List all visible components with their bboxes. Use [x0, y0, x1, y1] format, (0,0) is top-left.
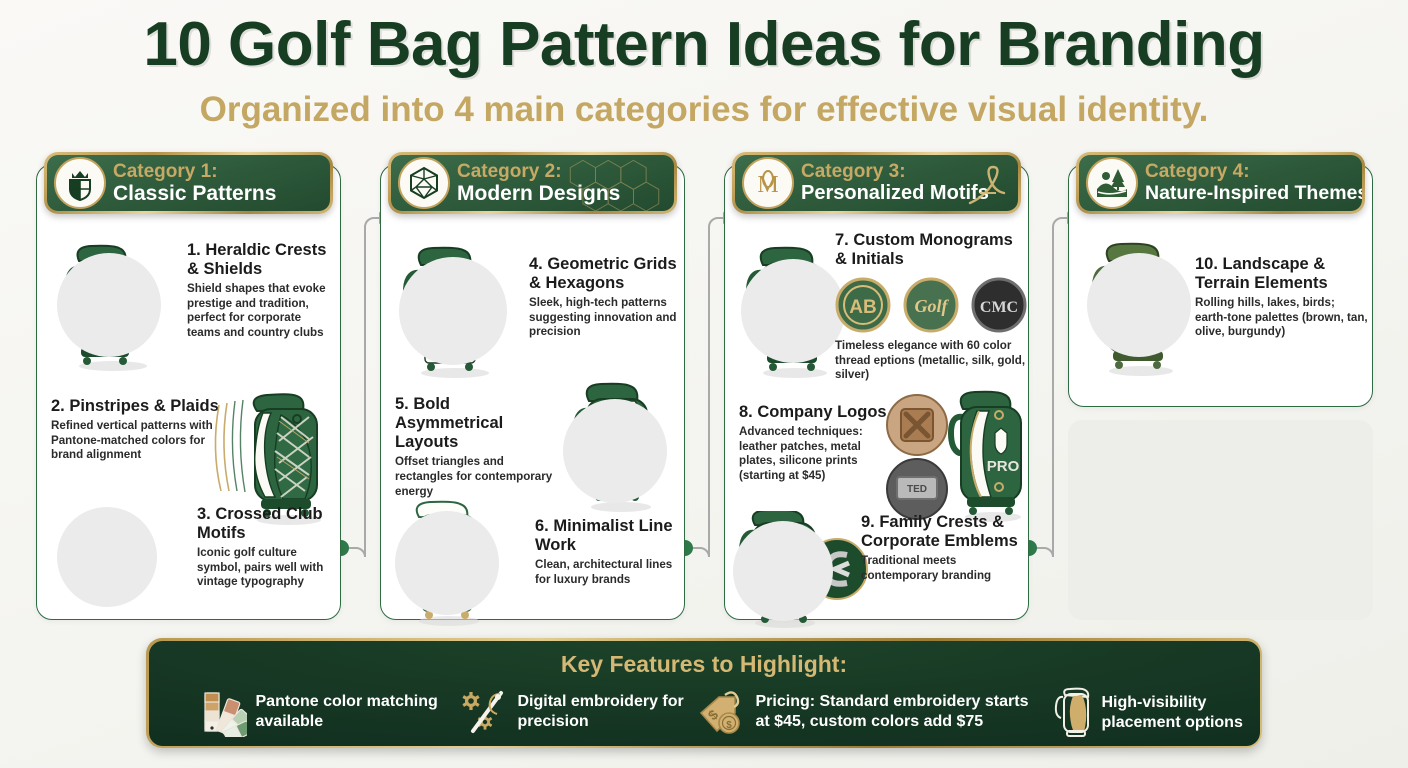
- color-swatch-fan-icon: [197, 687, 247, 737]
- item-desc: Advanced techniques: leather patches, me…: [739, 425, 887, 483]
- golf-bag-outline-icon: [1049, 687, 1093, 739]
- item-desc: Shield shapes that evoke prestige and tr…: [187, 282, 337, 340]
- key-feature-item[interactable]: Pantone color matching available: [197, 687, 447, 737]
- monogram-badge-cmc: CMC: [971, 277, 1027, 333]
- header: 10 Golf Bag Pattern Ideas for Branding O…: [0, 14, 1408, 127]
- list-item[interactable]: ESTD 3. Crossed Club Motifs Iconic golf …: [37, 501, 342, 621]
- key-feature-label: Digital embroidery for precision: [518, 692, 709, 730]
- infographic-root: 10 Golf Bag Pattern Ideas for Branding O…: [0, 0, 1408, 768]
- category-kicker: Category 2:: [457, 161, 620, 182]
- item-title: 6. Minimalist Line Work: [535, 517, 683, 555]
- list-item[interactable]: 1. Heraldic Crests & Shields Shield shap…: [37, 231, 342, 371]
- key-feature-item[interactable]: High-visibility placement options: [1049, 687, 1249, 739]
- category-card-3[interactable]: AB 7. Custom Monograms & Initials: [724, 164, 1029, 620]
- monogram-icon: M: [742, 157, 794, 209]
- list-item[interactable]: 6. Minimalist Line Work Clean, architect…: [381, 495, 686, 625]
- svg-text:Golf: Golf: [915, 296, 950, 316]
- item-title: 2. Pinstripes & Plaids: [51, 397, 223, 416]
- svg-text:AB: AB: [849, 297, 876, 318]
- item-desc: Traditional meets contemporary branding: [861, 554, 1025, 583]
- key-feature-label: High-visibility placement options: [1102, 693, 1249, 731]
- key-features-bar: Key Features to Highlight: Pantone color…: [146, 638, 1262, 748]
- monogram-badge-group: AB Golf CMC: [835, 277, 1027, 333]
- list-item[interactable]: 10. Landscape & Terrain Elements Rolling…: [1069, 231, 1374, 391]
- item-desc: Timeless elegance with 60 color thread e…: [835, 339, 1027, 383]
- item-desc: Rolling hills, lakes, birds; earth-tone …: [1195, 296, 1369, 340]
- category-kicker: Category 1:: [113, 161, 276, 182]
- item-title: 1. Heraldic Crests & Shields: [187, 241, 337, 279]
- item-title: 10. Landscape & Terrain Elements: [1195, 255, 1369, 293]
- item-desc: Clean, architectural lines for luxury br…: [535, 558, 683, 587]
- item-title: 7. Custom Monograms & Initials: [835, 231, 1027, 269]
- category-card-2[interactable]: 4. Geometric Grids & Hexagons Sleek, hig…: [380, 164, 685, 620]
- needle-gears-icon: [459, 687, 509, 737]
- item-title: 5. Bold Asymmetrical Layouts: [395, 395, 561, 452]
- item-title: 3. Crossed Club Motifs: [197, 505, 339, 543]
- category-header-4[interactable]: Category 4: Nature-Inspired Themes: [1076, 152, 1365, 214]
- category-columns: 1. Heraldic Crests & Shields Shield shap…: [0, 152, 1408, 620]
- item-title: 8. Company Logos: [739, 403, 887, 422]
- svg-text:CMC: CMC: [980, 299, 1018, 316]
- category-name: Modern Designs: [457, 182, 620, 206]
- item-title: 9. Family Crests & Corporate Emblems: [861, 513, 1025, 551]
- calligraphy-flourish-icon: [958, 159, 1012, 211]
- key-feature-item[interactable]: $ $ Pricing: Standard embroidery starts …: [695, 687, 1035, 737]
- page-title: 10 Golf Bag Pattern Ideas for Branding: [0, 14, 1408, 76]
- category-name: Classic Patterns: [113, 182, 276, 206]
- item-desc: Offset triangles and rectangles for cont…: [395, 455, 561, 499]
- price-tag-coin-icon: $ $: [695, 687, 747, 737]
- category-header-2[interactable]: Category 2: Modern Designs: [388, 152, 677, 214]
- svg-text:M: M: [757, 172, 778, 198]
- category-header-1[interactable]: Category 1: Classic Patterns: [44, 152, 333, 214]
- list-item[interactable]: 9. Family Crests & Corporate Emblems Tra…: [725, 503, 1030, 623]
- list-item[interactable]: 4. Geometric Grids & Hexagons Sleek, hig…: [381, 231, 686, 381]
- list-item[interactable]: AB 7. Custom Monograms & Initials: [725, 231, 1030, 391]
- key-feature-label: Pantone color matching available: [256, 692, 447, 730]
- item-title: 4. Geometric Grids & Hexagons: [529, 255, 679, 293]
- shield-crown-icon: [54, 157, 106, 209]
- monogram-badge-ab: AB: [835, 277, 891, 333]
- key-features-title: Key Features to Highlight:: [149, 651, 1260, 678]
- svg-text:$: $: [726, 720, 732, 731]
- svg-text:PRO: PRO: [987, 458, 1020, 475]
- hexagon-geometric-icon: [398, 157, 450, 209]
- item-desc: Refined vertical patterns with Pantone-m…: [51, 419, 223, 463]
- item-desc: Iconic golf culture symbol, pairs well w…: [197, 546, 339, 590]
- key-feature-label: Pricing: Standard embroidery starts at $…: [756, 692, 1035, 730]
- page-subtitle: Organized into 4 main categories for eff…: [0, 92, 1408, 127]
- item-desc: Sleek, high-tech patterns suggesting inn…: [529, 296, 679, 340]
- landscape-tree-icon: [1086, 157, 1138, 209]
- category-name: Nature-Inspired Themes: [1145, 183, 1362, 205]
- category-header-3[interactable]: M Category 3: Personalized Motifs: [732, 152, 1021, 214]
- category-card-1[interactable]: 1. Heraldic Crests & Shields Shield shap…: [36, 164, 341, 620]
- svg-text:TED: TED: [907, 484, 927, 495]
- monogram-badge-golf: Golf: [903, 277, 959, 333]
- category-kicker: Category 4:: [1145, 161, 1362, 182]
- empty-panel: [1068, 420, 1373, 620]
- key-feature-item[interactable]: Digital embroidery for precision: [459, 687, 709, 737]
